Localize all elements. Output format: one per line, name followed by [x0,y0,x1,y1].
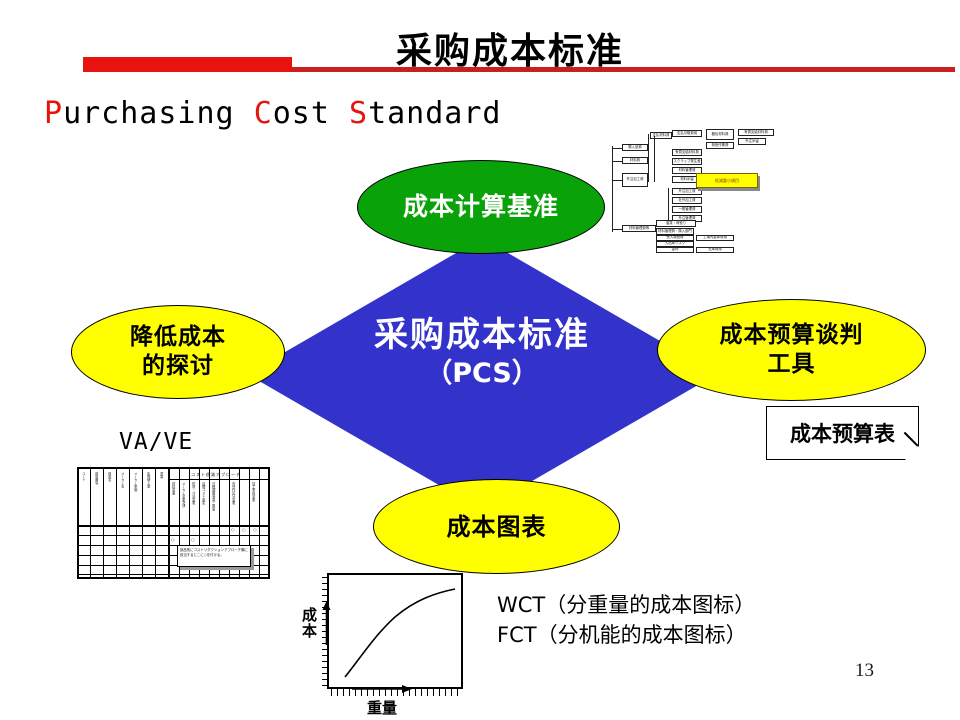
vave-header-cell: 年間使入金 [146,472,149,488]
vave-mark: ○ [242,527,246,532]
vave-label: VA/VE [119,429,193,455]
vave-col-rule [103,469,104,577]
subtitle-cap-c: C [254,96,273,131]
tree-trunk [612,146,613,232]
chart-x-axis-label: 重量 [367,697,397,718]
vave-header-cell: メーカー単価 [133,472,136,491]
tree-node: 材料費 [622,157,648,164]
chart-note-line2: FCT（分机能的成本图标） [497,620,755,650]
node-right-line1: 成本预算谈判 [720,322,864,348]
vave-header-cell: コード [81,472,84,482]
chart-y-axis-label-text: 成本 [301,607,317,639]
tree-node: 荷役作業費 [706,142,734,149]
tree-node: 運賃・荷役り [656,220,696,227]
subtitle: Purchasing Cost Standard [44,96,502,131]
node-bottom-label: 成本图表 [447,512,547,542]
tree-node: 一般管理費 [672,206,702,213]
chart-x-axis-arrow-icon [352,684,412,694]
node-cost-budget-negotiation-tool: 成本预算谈判 工具 [657,299,926,401]
node-left-line2: 的探讨 [142,353,214,379]
vave-header-cell: 部品名 [107,472,110,482]
page-number: 13 [855,660,874,682]
node-left-label: 降低成本 的探讨 [130,323,226,381]
node-right-label: 成本预算谈判 工具 [720,321,864,379]
node-cost-calculation-basis: 成本计算基准 [357,160,605,254]
center-diamond: 采购成本标准 （PCS） [247,238,717,510]
vave-col-rule [90,469,91,577]
diamond-label-line1: 采购成本标准 [247,314,717,356]
vave-col-rule [259,469,260,577]
vave-mark: ○ [191,537,195,542]
node-left-line1: 降低成本 [130,324,226,350]
tree-highlight-box: 低減要小項目 [696,173,758,188]
tree-node: スクラップ発生差 [672,158,702,165]
chart-note-line1: WCT（分重量的成本图标） [497,590,755,620]
tree-node: 購入品費 [622,144,648,151]
note-cost-budget-sheet: 成本预算表 [766,406,919,460]
cost-weight-chart [327,573,463,689]
vave-header-cell: 材料変更 [171,482,174,495]
tree-node: 外注歩留 [738,138,766,145]
tree-node: 社外加工費 [672,197,702,204]
vave-mark: ○ [171,537,175,542]
tree-node: 外注加工費 [622,173,648,187]
vave-header-cell: メーカー変更交渉 [181,482,184,508]
slide-canvas: 采购成本标准 Purchasing Cost Standard 采购成本标准 （… [0,0,960,720]
vave-header-cell: 加工条件変更 [251,482,254,501]
title-rule-block [83,57,292,72]
vave-span-header: コスト低減アプローチ [191,472,241,478]
tree-node: 支払引取費用 [672,130,702,137]
vave-mark: ○ [253,527,257,532]
vave-col-rule [116,469,117,577]
subtitle-text-3: tandard [368,96,501,131]
vave-header-cell: 目標コスト設定 [201,482,204,504]
vave-span-rule [170,479,268,480]
note-cost-budget-sheet-label: 成本预算表 [790,418,895,448]
tree-link [612,148,622,149]
vave-col-rule [129,469,130,577]
subtitle-text-1: urchasing [63,96,254,131]
tree-node: 在庫費用 [696,247,734,253]
subtitle-cap-p: P [44,96,63,131]
vave-header-cell: 部品番号 [94,472,97,485]
note-fold-line-icon [904,431,918,445]
chart-notes: WCT（分重量的成本图标） FCT（分机能的成本图标） [497,590,755,650]
tree-node: 材料管理費・購入部門 [656,228,694,235]
tree-node: 金利 [656,247,694,253]
tree-branch [654,136,655,182]
diamond-label: 采购成本标准 （PCS） [247,314,717,392]
title-rule-line [291,67,955,72]
vave-header-cell: 重量 [159,472,162,478]
chart-y-axis-arrow-icon [322,601,331,645]
vave-section-rule [168,469,170,577]
node-cost-reduction-study: 降低成本 的探讨 [71,305,285,399]
tree-link [612,180,622,181]
tree-node: 有償支給材料費 [672,149,702,156]
vave-header-cell: メーカー名 [120,472,123,488]
chart-y-axis-label: 成本 [298,607,320,642]
vave-col-rule [155,469,156,577]
node-top-label: 成本计算基准 [403,191,559,222]
subtitle-cap-s: S [349,96,368,131]
tree-node: 有償支給材料費 [738,129,774,136]
tree-link [612,229,622,230]
vave-header-cell: 日程調整見直・数量 [211,482,214,511]
tree-branch [668,188,669,222]
node-cost-chart: 成本图表 [373,479,620,574]
subtitle-text-2: ost [273,96,349,131]
vave-callout: 部品別にコストリダクションアプローチ欄に該当するとこに○を付ける。 [177,545,251,567]
tree-node: 梱包材料費 [706,129,734,140]
vave-header-cell: 内外作区分変更 [231,482,234,504]
vave-table-thumbnail: コスト低減アプローチ コード 部品番号 部品名 メーカー名 メーカー単価 年間使… [77,467,270,579]
tree-node: 材料管理費等 [622,225,656,232]
tree-branch [648,134,649,182]
chart-curve [327,573,463,689]
vave-header-cell: 形状・寸法変更 [191,482,194,504]
node-right-line2: 工具 [768,351,816,377]
tree-link [612,161,622,162]
note-fold-corner-icon [905,446,919,460]
cost-structure-tree-thumbnail: 購入品費 材料費 外注加工費 材料管理費等 支払材料費 支払引取費用 有償支給材… [608,128,780,250]
vave-mark: ○ [231,527,235,532]
diamond-label-line2: （PCS） [247,356,717,392]
vave-col-rule [142,469,143,577]
tree-node: 工場内倉庫費用 [696,235,734,241]
